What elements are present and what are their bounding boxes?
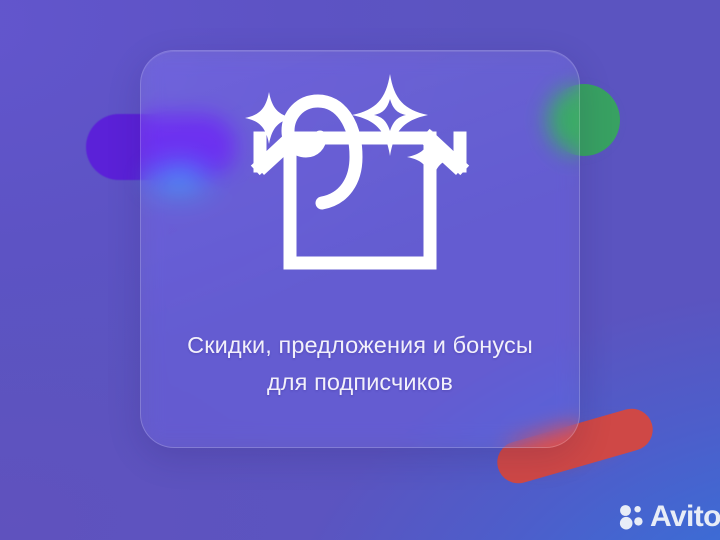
avito-wordmark: Avito [650,502,720,532]
banner-canvas: Скидки, предложения и бонусы для подписч… [0,0,720,540]
avito-logo[interactable]: Avito [618,502,720,532]
caption-line-1: Скидки, предложения и бонусы [187,332,533,358]
open-gift-box-with-sparkles-icon [244,65,476,297]
avito-dots-icon [618,504,644,530]
promo-caption: Скидки, предложения и бонусы для подписч… [141,327,579,401]
promo-card[interactable]: Скидки, предложения и бонусы для подписч… [140,50,580,448]
caption-line-2: для подписчиков [267,369,453,395]
